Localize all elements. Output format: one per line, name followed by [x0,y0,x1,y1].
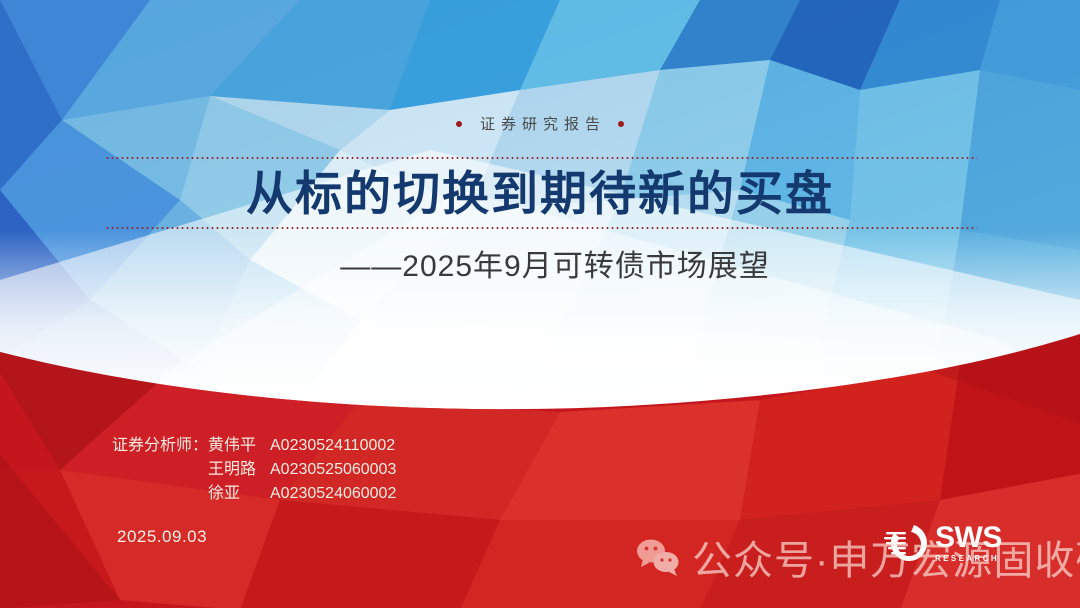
sws-logo: SWS RESEARCH [884,521,1002,565]
analyst-name: 王明路 [208,458,270,482]
report-cover-slide: 证券研究报告 从标的切换到期待新的买盘 ——2025年9月可转债市场展望 证券分… [0,0,1080,608]
brand-name: SWS [935,523,1002,553]
page-subtitle: ——2025年9月可转债市场展望 [30,247,1080,287]
analyst-list-label: 证券分析师： [112,434,208,458]
background-artwork [0,0,1080,608]
page-title: 从标的切换到期待新的买盘 [0,165,1080,223]
analyst-label-spacer [112,482,208,506]
analyst-row: 王明路 A0230525060003 [112,458,396,482]
eyebrow: 证券研究报告 [0,113,1080,134]
analyst-list: 证券分析师： 黄伟平 A0230524110002 王明路 A023052506… [112,434,396,506]
analyst-label-spacer [112,458,208,482]
eyebrow-dot-left-icon [456,121,462,127]
analyst-certificate-code: A0230524110002 [270,434,395,458]
analyst-name: 黄伟平 [208,434,270,458]
brand-tagline: RESEARCH [935,555,1002,563]
subtitle-block: ——2025年9月可转债市场展望 [0,247,1080,287]
eyebrow-dot-right-icon [618,121,624,127]
analyst-name: 徐亚 [208,482,270,506]
divider-above-title [105,157,977,159]
title-block: 从标的切换到期待新的买盘 [0,165,1080,223]
analyst-row: 徐亚 A0230524060002 [112,482,396,506]
divider-below-title [105,227,977,229]
eyebrow-label: 证券研究报告 [474,113,606,134]
sws-wordmark: SWS RESEARCH [935,523,1002,563]
report-date: 2025.09.03 [117,527,207,547]
analyst-certificate-code: A0230524060002 [270,482,396,506]
sws-circle-mark-icon [884,521,930,565]
analyst-row: 证券分析师： 黄伟平 A0230524110002 [112,434,396,458]
analyst-certificate-code: A0230525060003 [270,458,396,482]
